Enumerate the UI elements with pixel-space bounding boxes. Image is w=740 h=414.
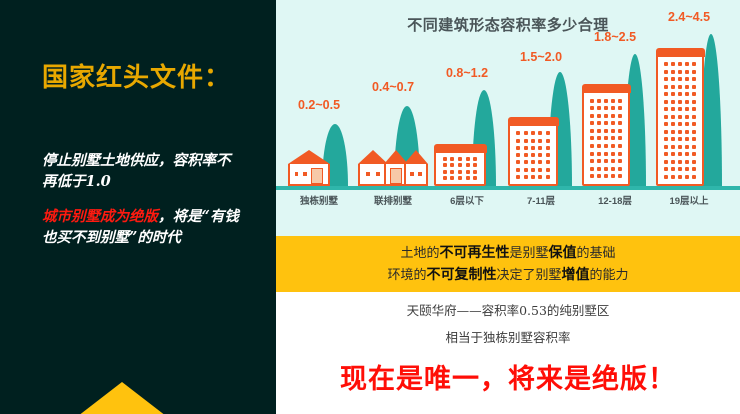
window-grid-2 [439, 155, 481, 182]
building-roof-2 [434, 144, 487, 153]
window-row [661, 115, 699, 119]
window-row [661, 145, 699, 149]
house-window-0 [295, 172, 299, 176]
window-row [661, 130, 699, 134]
value-banner: 土地的不可再生性是别墅保值的基础 环境的不可复制性决定了别墅增值的能力 [276, 236, 740, 292]
window-row [587, 121, 625, 125]
window-row [439, 176, 481, 180]
window-row [587, 167, 625, 171]
house-window-3 [376, 172, 380, 176]
building-icon-2 [434, 149, 486, 186]
house-roof-0 [288, 150, 330, 164]
house-window-5 [418, 172, 422, 176]
window-row [587, 106, 625, 110]
window-grid-3 [513, 128, 553, 182]
far-chart: 不同建筑形态容积率多少合理 0.2~0.5 独栋别墅 [276, 0, 740, 236]
chart-value-label-0: 0.2~0.5 [282, 98, 356, 112]
window-row [661, 85, 699, 89]
window-row [513, 153, 553, 157]
window-row [661, 175, 699, 179]
window-row [587, 99, 625, 103]
window-grid-4 [587, 95, 625, 182]
window-row [661, 70, 699, 74]
house-door-0 [311, 168, 323, 184]
window-grid-5 [661, 59, 699, 182]
house-roof-1c [404, 150, 428, 164]
scarcity-highlight: 城市别墅成为绝版 [42, 208, 158, 225]
chart-group-5: 2.4~4.5 [652, 16, 726, 186]
chart-group-4: 1.8~2.5 [578, 16, 652, 186]
chart-group-3: 1.5~2.0 7-11层 [504, 16, 578, 186]
chart-plot-area: 0.2~0.5 独栋别墅 0.4~0.7 [276, 0, 740, 210]
window-row [439, 170, 481, 174]
building-roof-3 [508, 117, 559, 126]
window-row [513, 175, 553, 179]
chart-value-label-1: 0.4~0.7 [356, 80, 430, 94]
window-row [587, 152, 625, 156]
building-icon-5 [656, 53, 704, 186]
chart-tick-label-5: 19层以上 [646, 193, 732, 207]
window-row [587, 114, 625, 118]
policy-paragraph: 停止别墅土地供应，容积率不再低于1.0 [42, 150, 242, 192]
building-icon-4 [582, 89, 630, 186]
banner-line-2: 环境的不可复制性决定了别墅增值的能力 [387, 264, 628, 286]
building-roof-4 [582, 84, 631, 93]
chart-value-label-3: 1.5~2.0 [504, 50, 578, 64]
window-row [587, 129, 625, 133]
chart-value-label-5: 2.4~4.5 [652, 10, 726, 24]
building-roof-5 [656, 48, 705, 57]
slide-root: 国家红头文件： 停止别墅土地供应，容积率不再低于1.0 城市别墅成为绝版，将是“… [0, 0, 740, 414]
window-row [513, 139, 553, 143]
window-row [661, 137, 699, 141]
project-subline-1: 天颐华府——容积率0.53的纯别墅区 [276, 300, 740, 319]
house-door-1 [390, 168, 402, 184]
scarcity-paragraph: 城市别墅成为绝版，将是“有钱也买不到别墅”的时代 [42, 206, 242, 248]
left-panel-body: 停止别墅土地供应，容积率不再低于1.0 城市别墅成为绝版，将是“有钱也买不到别墅… [42, 150, 242, 262]
house-window-1 [303, 172, 307, 176]
window-row [661, 160, 699, 164]
window-row [587, 159, 625, 163]
window-row [587, 136, 625, 140]
building-icon-3 [508, 122, 558, 186]
banner-line-1: 土地的不可再生性是别墅保值的基础 [400, 242, 615, 264]
window-row [661, 167, 699, 171]
window-row [587, 174, 625, 178]
window-row [513, 146, 553, 150]
window-row [661, 107, 699, 111]
left-dark-panel: 国家红头文件： 停止别墅土地供应，容积率不再低于1.0 城市别墅成为绝版，将是“… [0, 0, 276, 414]
headline-slogan: 现在是唯一，将来是绝版！ [276, 357, 740, 396]
house-window-4 [410, 172, 414, 176]
building-icon-0 [288, 150, 330, 186]
window-row [513, 160, 553, 164]
right-column: 不同建筑形态容积率多少合理 0.2~0.5 独栋别墅 [276, 0, 740, 414]
window-row [661, 62, 699, 66]
page-title: 国家红头文件： [42, 57, 231, 94]
window-row [661, 152, 699, 156]
house-body-0 [288, 164, 330, 186]
window-row [661, 92, 699, 96]
window-row [439, 157, 481, 161]
chart-group-2: 0.8~1.2 6层以下 [430, 16, 504, 186]
house-body-1c [404, 164, 428, 186]
window-row [587, 144, 625, 148]
chart-group-1: 0.4~0.7 [356, 16, 430, 186]
window-row [513, 131, 553, 135]
window-row [439, 163, 481, 167]
window-row [661, 122, 699, 126]
chart-value-label-2: 0.8~1.2 [430, 66, 504, 80]
chart-group-0: 0.2~0.5 独栋别墅 [282, 16, 356, 186]
chart-value-label-4: 1.8~2.5 [578, 30, 652, 44]
triangle-up-icon [78, 382, 166, 414]
building-icon-1c [404, 150, 428, 186]
house-window-2 [366, 172, 370, 176]
project-subline-2: 相当于独栋别墅容积率 [276, 327, 740, 346]
window-row [513, 168, 553, 172]
window-row [661, 100, 699, 104]
window-row [661, 77, 699, 81]
